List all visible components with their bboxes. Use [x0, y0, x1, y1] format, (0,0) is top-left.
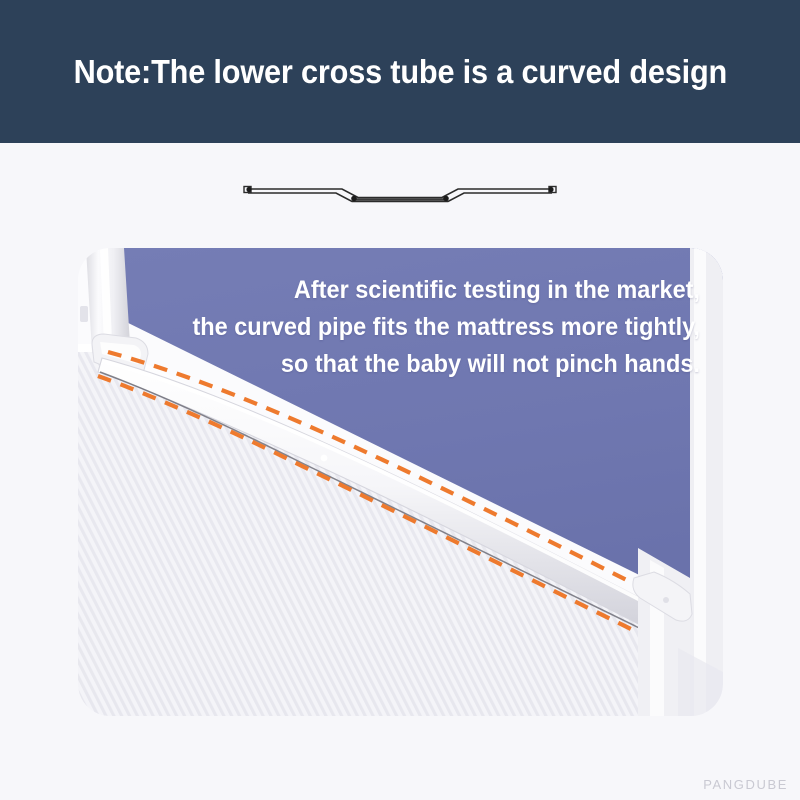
brand-watermark: PANGDUBE — [703, 777, 788, 792]
tube-schematic-svg — [240, 172, 560, 214]
right-connector-screw — [663, 597, 669, 603]
tube-joint-dot — [246, 187, 251, 192]
tube-fastener — [321, 455, 328, 462]
tube-midsection-fill — [354, 198, 446, 201]
left-post-screw-slot — [80, 306, 88, 322]
product-photo-svg — [78, 248, 723, 716]
product-photo — [78, 248, 723, 716]
tube-joint-dot — [351, 196, 357, 202]
header-banner: Note:The lower cross tube is a curved de… — [0, 0, 800, 143]
tube-joint-dot — [548, 187, 553, 192]
curved-cross-tube-schematic — [240, 172, 560, 214]
tube-joint-dot — [443, 196, 449, 202]
page-title: Note:The lower cross tube is a curved de… — [73, 53, 727, 91]
right-frame-rail-highlight — [694, 248, 706, 716]
